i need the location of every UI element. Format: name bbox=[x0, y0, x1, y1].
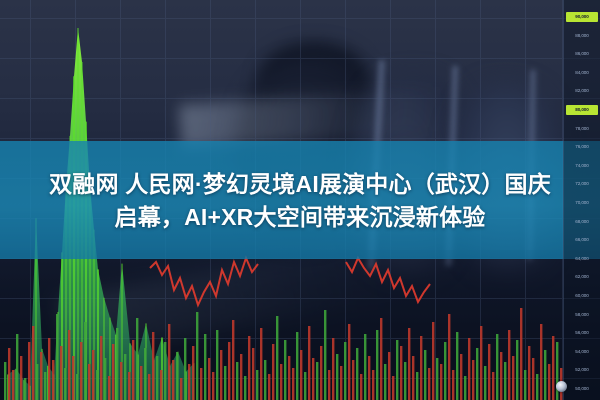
volume-bar bbox=[544, 350, 546, 400]
volume-bar bbox=[76, 374, 78, 400]
volume-bar bbox=[356, 348, 358, 400]
volume-bar bbox=[444, 342, 446, 400]
price-axis-label: 88,000 bbox=[566, 31, 598, 40]
price-axis-label: 74,000 bbox=[566, 161, 598, 170]
volume-bar bbox=[332, 338, 334, 400]
volume-bar bbox=[204, 334, 206, 400]
volume-bar bbox=[552, 336, 554, 400]
volume-bar bbox=[420, 336, 422, 400]
volume-bar bbox=[44, 372, 46, 400]
volume-bar bbox=[468, 338, 470, 400]
price-axis-highlight-label: 80,000 bbox=[566, 105, 598, 115]
volume-bar bbox=[324, 310, 326, 400]
volume-bar bbox=[200, 368, 202, 400]
volume-bar bbox=[112, 344, 114, 400]
price-axis-label: 50,000 bbox=[566, 384, 598, 393]
price-axis-label: 60,000 bbox=[566, 291, 598, 300]
volume-bar bbox=[388, 352, 390, 400]
volume-bar bbox=[492, 372, 494, 400]
volume-bar bbox=[144, 348, 146, 400]
volume-bar bbox=[400, 346, 402, 400]
volume-bar bbox=[508, 330, 510, 400]
volume-bar bbox=[428, 368, 430, 400]
volume-bar bbox=[164, 342, 166, 400]
volume-bar bbox=[368, 356, 370, 400]
volume-bar bbox=[96, 370, 98, 400]
price-axis-label: 64,000 bbox=[566, 254, 598, 263]
volume-bar bbox=[516, 340, 518, 400]
volume-bar bbox=[36, 364, 38, 400]
volume-bar bbox=[344, 342, 346, 400]
price-line bbox=[150, 258, 258, 305]
price-axis[interactable]: 90,00088,00086,00084,00082,00080,00078,0… bbox=[563, 0, 600, 400]
volume-bar bbox=[476, 348, 478, 400]
volume-bar bbox=[8, 348, 10, 400]
volume-bar bbox=[212, 372, 214, 400]
price-axis-label: 72,000 bbox=[566, 179, 598, 188]
volume-bar bbox=[340, 366, 342, 400]
volume-bar bbox=[172, 360, 174, 400]
volume-bar bbox=[532, 358, 534, 400]
volume-bar bbox=[88, 364, 90, 400]
cursor-marker-icon bbox=[556, 381, 567, 392]
volume-bar bbox=[380, 318, 382, 400]
volume-bar bbox=[124, 354, 126, 400]
volume-bar bbox=[108, 376, 110, 400]
volume-bar bbox=[268, 374, 270, 400]
volume-bar bbox=[188, 364, 190, 400]
volume-bar bbox=[120, 362, 122, 400]
volume-bar bbox=[180, 378, 182, 400]
price-axis-label: 78,000 bbox=[566, 124, 598, 133]
volume-bar bbox=[376, 330, 378, 400]
volume-bar bbox=[504, 362, 506, 400]
volume-bar bbox=[276, 316, 278, 400]
price-axis-label: 52,000 bbox=[566, 365, 598, 374]
volume-bar bbox=[136, 318, 138, 400]
volume-bar bbox=[92, 350, 94, 400]
volume-bar bbox=[140, 366, 142, 400]
volume-bar bbox=[464, 376, 466, 400]
volume-bar bbox=[184, 338, 186, 400]
volume-bar bbox=[456, 332, 458, 400]
price-axis-label: 82,000 bbox=[566, 86, 598, 95]
volume-bar bbox=[408, 328, 410, 400]
volume-bar bbox=[32, 326, 34, 400]
page-title: 双融网 人民网·梦幻灵境AI展演中心（武汉）国庆 启幕，AI+XR大空间带来沉浸… bbox=[0, 168, 600, 234]
volume-bar bbox=[224, 366, 226, 400]
volume-bar bbox=[228, 342, 230, 400]
volume-bar bbox=[160, 370, 162, 400]
volume-bar bbox=[84, 322, 86, 400]
volume-bar bbox=[404, 362, 406, 400]
volume-bar bbox=[372, 370, 374, 400]
volume-bar bbox=[264, 360, 266, 400]
volume-bar bbox=[416, 372, 418, 400]
volume-bar bbox=[272, 344, 274, 400]
volume-bar bbox=[292, 368, 294, 400]
volume-bar bbox=[168, 324, 170, 400]
volume-bar bbox=[308, 326, 310, 400]
volume-bar bbox=[16, 334, 18, 400]
volume-bar bbox=[56, 314, 58, 400]
volume-bar bbox=[488, 344, 490, 400]
volume-bar bbox=[528, 346, 530, 400]
volume-bar bbox=[384, 364, 386, 400]
volume-bar bbox=[336, 354, 338, 400]
volume-bar bbox=[396, 340, 398, 400]
volume-bar bbox=[436, 358, 438, 400]
volume-bar bbox=[540, 324, 542, 400]
volume-bar bbox=[472, 360, 474, 400]
volume-bar bbox=[300, 350, 302, 400]
volume-bar bbox=[260, 328, 262, 400]
volume-bar bbox=[208, 358, 210, 400]
volume-bar bbox=[296, 332, 298, 400]
volume-bar bbox=[312, 358, 314, 400]
price-axis-label: 66,000 bbox=[566, 235, 598, 244]
volume-bar bbox=[496, 334, 498, 400]
volume-bar bbox=[48, 338, 50, 400]
volume-bar bbox=[40, 352, 42, 400]
price-axis-label: 68,000 bbox=[566, 217, 598, 226]
volume-bar bbox=[156, 356, 158, 400]
screenshot-root: 双融网 人民网·梦幻灵境AI展演中心（武汉）国庆 启幕，AI+XR大空间带来沉浸… bbox=[0, 0, 600, 400]
price-axis-label: 54,000 bbox=[566, 347, 598, 356]
volume-bar bbox=[72, 356, 74, 400]
volume-bar bbox=[256, 370, 258, 400]
volume-bar bbox=[364, 334, 366, 400]
volume-bar bbox=[128, 372, 130, 400]
volume-bar bbox=[352, 360, 354, 400]
volume-bar bbox=[216, 330, 218, 400]
volume-bar bbox=[328, 370, 330, 400]
volume-bar bbox=[196, 312, 198, 400]
volume-bar bbox=[452, 370, 454, 400]
price-axis-label: 84,000 bbox=[566, 68, 598, 77]
volume-bar bbox=[520, 308, 522, 400]
volume-bar bbox=[64, 368, 66, 400]
volume-bar bbox=[28, 342, 30, 400]
volume-bar bbox=[100, 336, 102, 400]
volume-bar bbox=[244, 376, 246, 400]
volume-bar bbox=[424, 350, 426, 400]
volume-bar bbox=[360, 374, 362, 400]
volume-bar bbox=[152, 332, 154, 400]
volume-bar bbox=[80, 342, 82, 400]
price-line bbox=[346, 258, 430, 302]
volume-bar bbox=[192, 346, 194, 400]
volume-bar bbox=[280, 364, 282, 400]
volume-bar bbox=[104, 358, 106, 400]
volume-bar bbox=[484, 366, 486, 400]
volume-bar bbox=[4, 362, 6, 400]
volume-bar bbox=[500, 352, 502, 400]
volume-bar bbox=[232, 320, 234, 400]
volume-bar bbox=[68, 330, 70, 400]
price-axis-highlight-label: 90,000 bbox=[566, 12, 598, 22]
volume-bar bbox=[20, 356, 22, 400]
volume-bar bbox=[480, 326, 482, 400]
volume-bar bbox=[536, 374, 538, 400]
volume-bar bbox=[392, 376, 394, 400]
volume-bar bbox=[412, 356, 414, 400]
price-axis-label: 70,000 bbox=[566, 198, 598, 207]
volume-bar bbox=[176, 352, 178, 400]
volume-bar bbox=[284, 340, 286, 400]
volume-bar bbox=[240, 354, 242, 400]
volume-bar bbox=[512, 356, 514, 400]
price-axis-label: 62,000 bbox=[566, 272, 598, 281]
volume-bar bbox=[448, 314, 450, 400]
volume-bar bbox=[548, 364, 550, 400]
volume-bar bbox=[116, 328, 118, 400]
volume-bar bbox=[220, 350, 222, 400]
volume-bar bbox=[460, 354, 462, 400]
price-axis-label: 56,000 bbox=[566, 328, 598, 337]
volume-bar bbox=[288, 356, 290, 400]
volume-bar bbox=[252, 348, 254, 400]
volume-bar bbox=[440, 364, 442, 400]
volume-bar bbox=[60, 346, 62, 400]
volume-bar bbox=[316, 362, 318, 400]
price-axis-label: 58,000 bbox=[566, 310, 598, 319]
price-axis-label: 76,000 bbox=[566, 142, 598, 151]
volume-bar bbox=[524, 370, 526, 400]
volume-bar bbox=[52, 360, 54, 400]
volume-bar bbox=[432, 322, 434, 400]
volume-bar bbox=[148, 374, 150, 400]
price-axis-label: 86,000 bbox=[566, 49, 598, 58]
volume-bar bbox=[236, 362, 238, 400]
volume-bar bbox=[320, 346, 322, 400]
volume-bar bbox=[248, 336, 250, 400]
volume-bar bbox=[304, 372, 306, 400]
volume-bar bbox=[132, 340, 134, 400]
volume-bar bbox=[348, 324, 350, 400]
volume-bar bbox=[24, 378, 26, 400]
volume-bar bbox=[12, 370, 14, 400]
